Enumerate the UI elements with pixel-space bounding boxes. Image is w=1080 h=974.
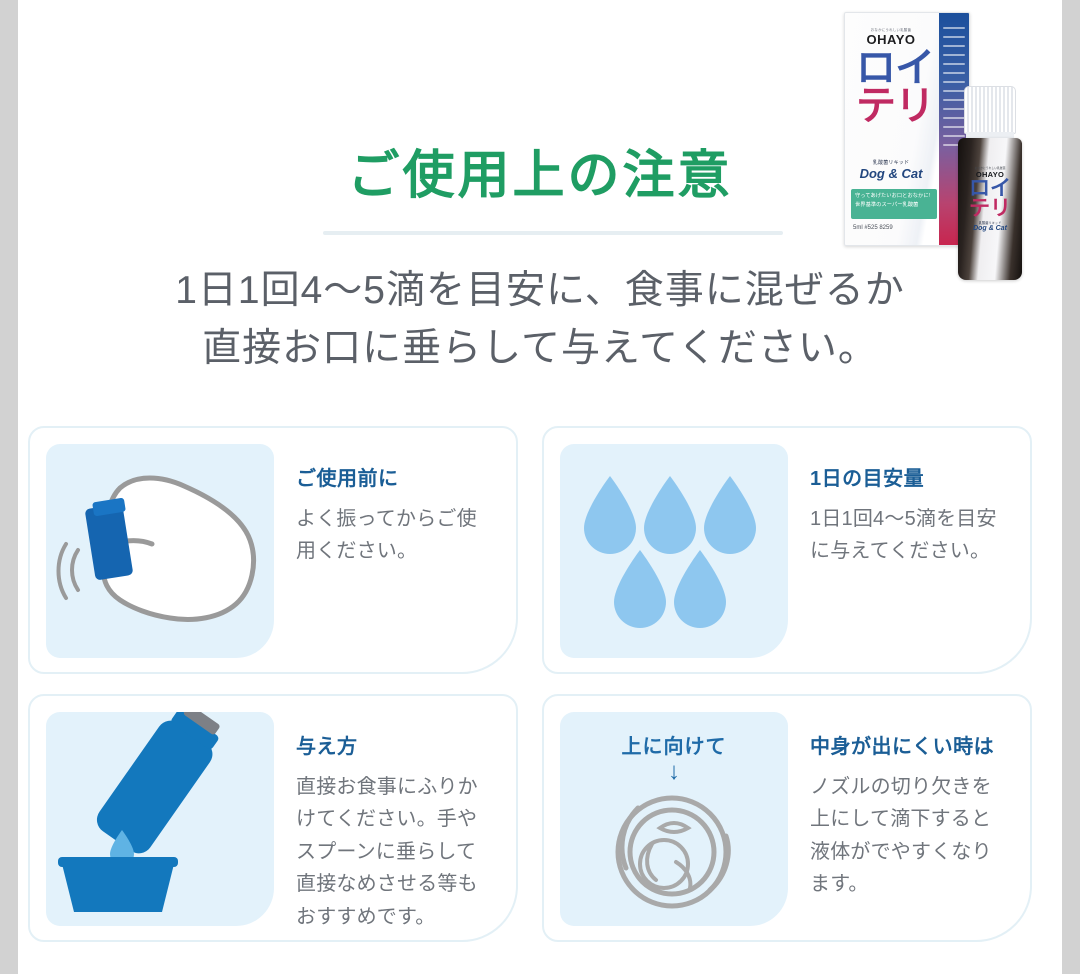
card-heading: 中身が出にくい時は bbox=[810, 730, 1010, 759]
card-text: 与え方 直接お食事にふりかけてください。手やスプーンに垂らして直接なめさせる等も… bbox=[274, 712, 500, 933]
five-droplets-icon bbox=[560, 444, 788, 658]
hand-shaking-bottle-icon bbox=[46, 444, 274, 658]
instruction-card: 与え方 直接お食事にふりかけてください。手やスプーンに垂らして直接なめさせる等も… bbox=[28, 694, 518, 942]
card-heading: ご使用前に bbox=[296, 462, 496, 491]
package-brand-logo: OHAYO bbox=[845, 32, 937, 47]
bottle-subtitle-large: Dog & Cat bbox=[965, 225, 1015, 232]
package-name-line1: ロイ bbox=[851, 49, 939, 87]
card-heading: 与え方 bbox=[296, 730, 496, 759]
page-content: おなかにうれしい乳酸菌 OHAYO ロイ テリ 乳酸菌リキッド Dog & Ca… bbox=[18, 0, 1062, 974]
card-text: 中身が出にくい時は ノズルの切り欠きを上にして滴下すると液体がでやすくなります。 bbox=[788, 712, 1014, 901]
page-title: ご使用上の注意 bbox=[18, 148, 1062, 205]
lead-line-1: 1日1回4〜5滴を目安に、食事に混ぜるか bbox=[18, 262, 1062, 320]
bottle-cap bbox=[964, 86, 1016, 134]
instruction-card: 1日の目安量 1日1回4〜5滴を目安に与えてください。 bbox=[542, 426, 1032, 674]
bottle-pouring-into-bowl-icon bbox=[46, 712, 274, 926]
package-volume: 5ml #525 8259 bbox=[853, 225, 893, 231]
card-body: 1日1回4〜5滴を目安に与えてください。 bbox=[810, 503, 1010, 568]
instruction-card-grid: ご使用前に よく振ってからご使用ください。 bbox=[28, 426, 1052, 942]
droplet-group bbox=[560, 444, 788, 658]
product-photo: おなかにうれしい乳酸菌 OHAYO ロイ テリ 乳酸菌リキッド Dog & Ca… bbox=[836, 4, 1060, 282]
lead-line-2: 直接お口に垂らして与えてください。 bbox=[18, 320, 1062, 378]
card-body: よく振ってからご使用ください。 bbox=[296, 503, 496, 568]
instruction-card: 上に向けて ↓ 中身が出にくい時は bbox=[542, 694, 1032, 942]
card-text: ご使用前に よく振ってからご使用ください。 bbox=[274, 444, 500, 568]
card-heading: 1日の目安量 bbox=[810, 462, 1010, 491]
lead-text: 1日1回4〜5滴を目安に、食事に混ぜるか 直接お口に垂らして与えてください。 bbox=[18, 262, 1062, 377]
nozzle-notch-up-icon: 上に向けて ↓ bbox=[560, 712, 788, 926]
card-body: 直接お食事にふりかけてください。手やスプーンに垂らして直接なめさせる等もおすすめ… bbox=[296, 771, 496, 933]
title-underline bbox=[323, 231, 783, 235]
instruction-card: ご使用前に よく振ってからご使用ください。 bbox=[28, 426, 518, 674]
package-product-name: ロイ テリ bbox=[851, 49, 939, 126]
card-text: 1日の目安量 1日1回4〜5滴を目安に与えてください。 bbox=[788, 444, 1014, 568]
package-name-line2: テリ bbox=[851, 87, 939, 125]
card-body: ノズルの切り欠きを上にして滴下すると液体がでやすくなります。 bbox=[810, 771, 1010, 901]
product-package-box: おなかにうれしい乳酸菌 OHAYO ロイ テリ 乳酸菌リキッド Dog & Ca… bbox=[844, 12, 970, 246]
